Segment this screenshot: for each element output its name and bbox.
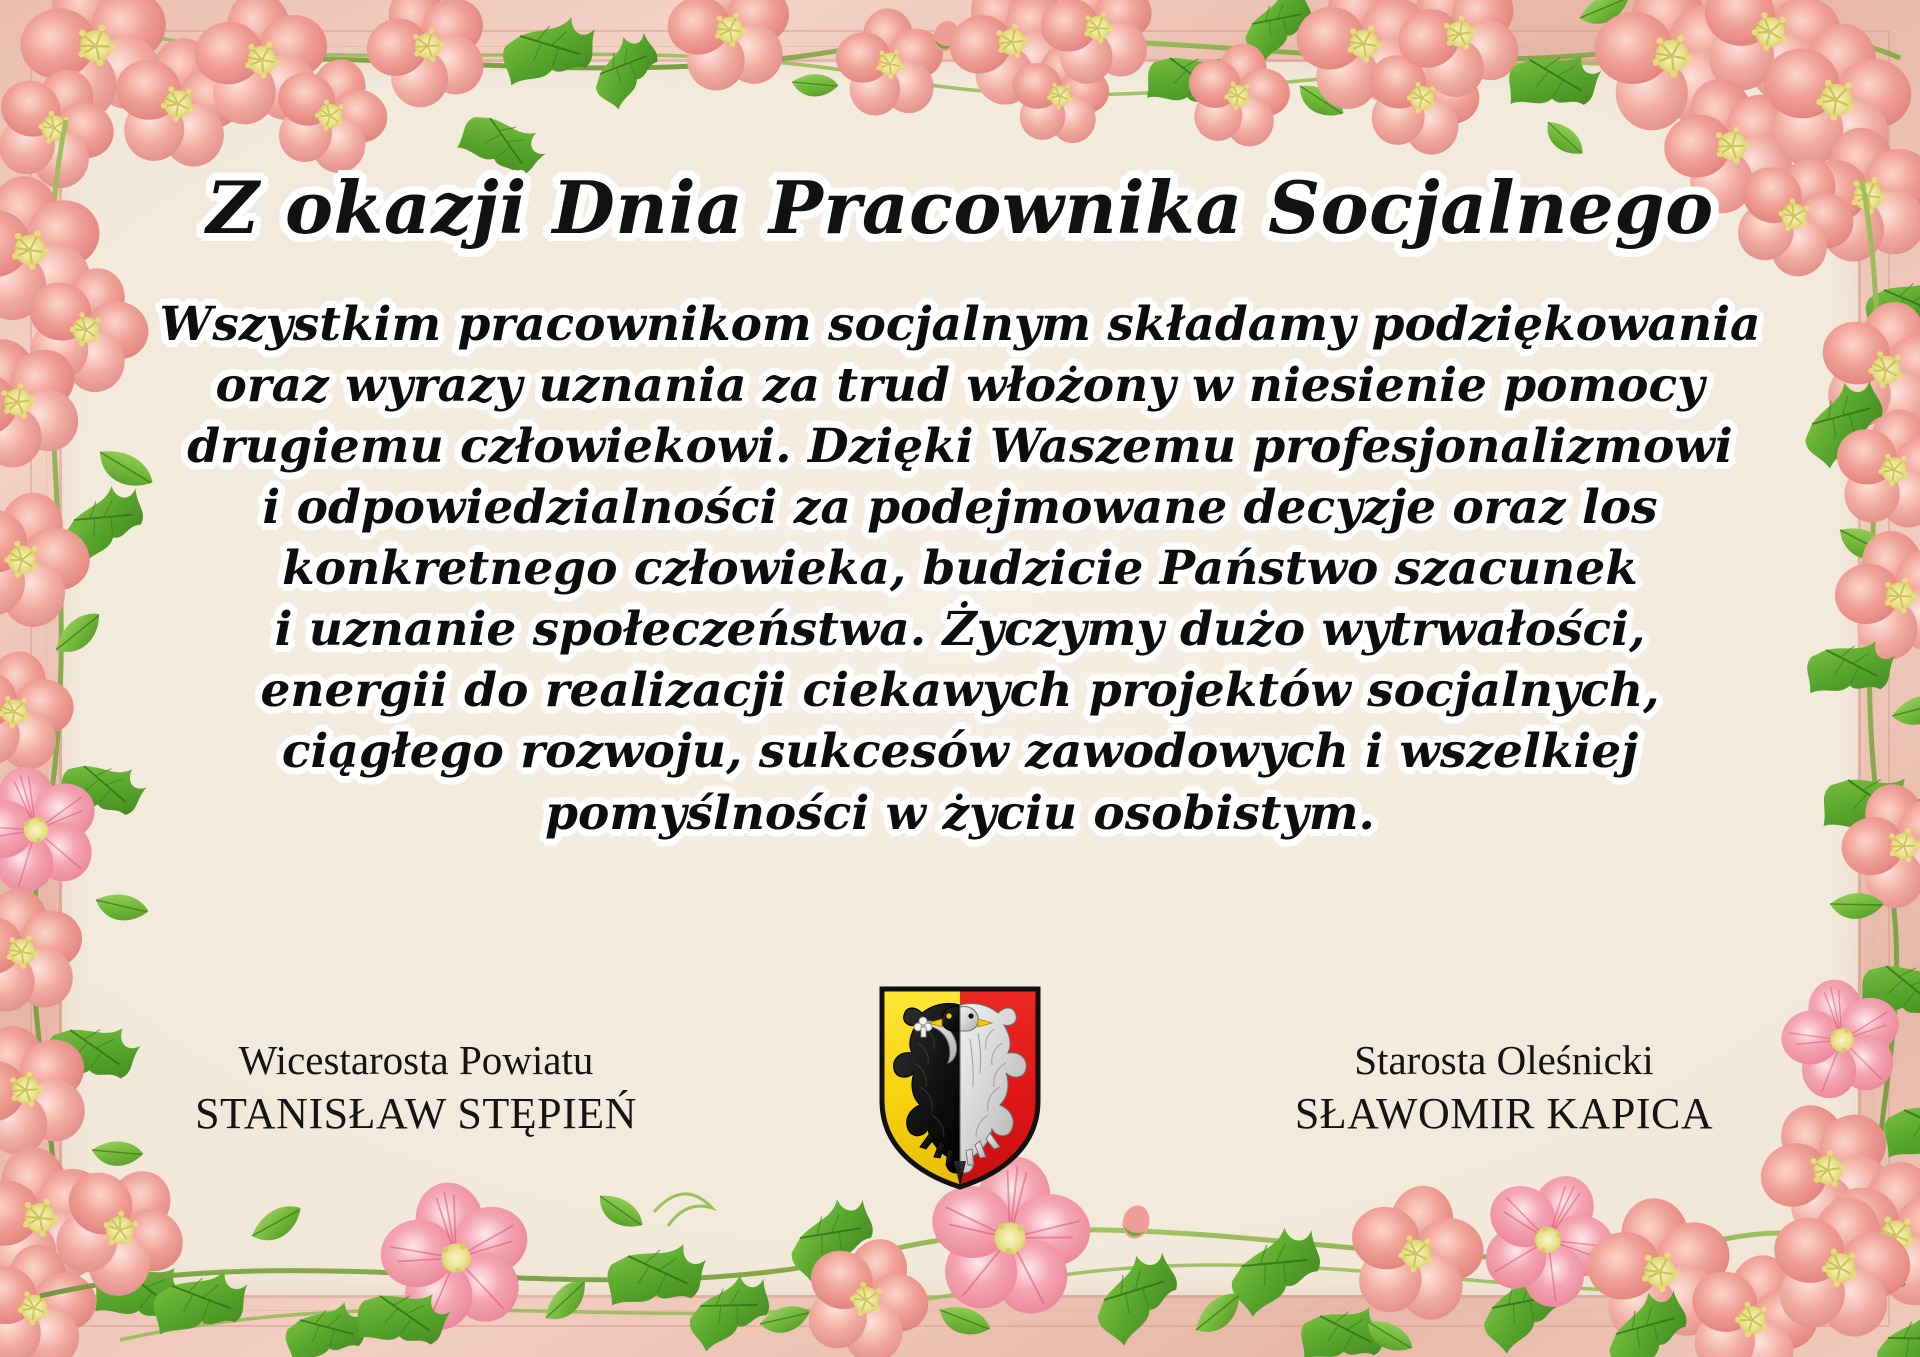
body-line: i uznanie społeczeństwa. Życzymy dużo wy…	[92, 599, 1828, 660]
signature-left-name: STANISŁAW STĘPIEŃ	[156, 1086, 676, 1141]
signature-left-role: Wicestarosta Powiatu	[156, 1035, 676, 1086]
greeting-body: Wszystkim pracownikom socjalnym składamy…	[92, 294, 1828, 844]
body-line: energii do realizacji ciekawych projektó…	[92, 660, 1828, 721]
body-line: pomyślności w życiu osobistym.	[92, 783, 1828, 844]
signature-right: Starosta Oleśnicki SŁAWOMIR KAPICA	[1244, 1035, 1764, 1141]
body-line: Wszystkim pracownikom socjalnym składamy…	[92, 294, 1828, 355]
signature-left: Wicestarosta Powiatu STANISŁAW STĘPIEŃ	[156, 1035, 676, 1141]
signature-right-role: Starosta Oleśnicki	[1244, 1035, 1764, 1086]
coat-of-arms-icon	[874, 983, 1046, 1193]
body-line: i odpowiedzialności za podejmowane decyz…	[92, 477, 1828, 538]
signature-block: Wicestarosta Powiatu STANISŁAW STĘPIEŃ	[92, 983, 1828, 1193]
signature-right-name: SŁAWOMIR KAPICA	[1244, 1086, 1764, 1141]
body-line: konkretnego człowieka, budzicie Państwo …	[92, 538, 1828, 599]
body-line: ciągłego rozwoju, sukcesów zawodowych i …	[92, 721, 1828, 782]
body-line: oraz wyrazy uznania za trud włożony w ni…	[92, 355, 1828, 416]
card-content: Z okazji Dnia Pracownika Socjalnego Wszy…	[92, 96, 1828, 1265]
greeting-card: Z okazji Dnia Pracownika Socjalnego Wszy…	[0, 0, 1920, 1357]
page-title: Z okazji Dnia Pracownika Socjalnego	[92, 170, 1828, 246]
body-line: drugiemu człowiekowi. Dzięki Waszemu pro…	[92, 416, 1828, 477]
